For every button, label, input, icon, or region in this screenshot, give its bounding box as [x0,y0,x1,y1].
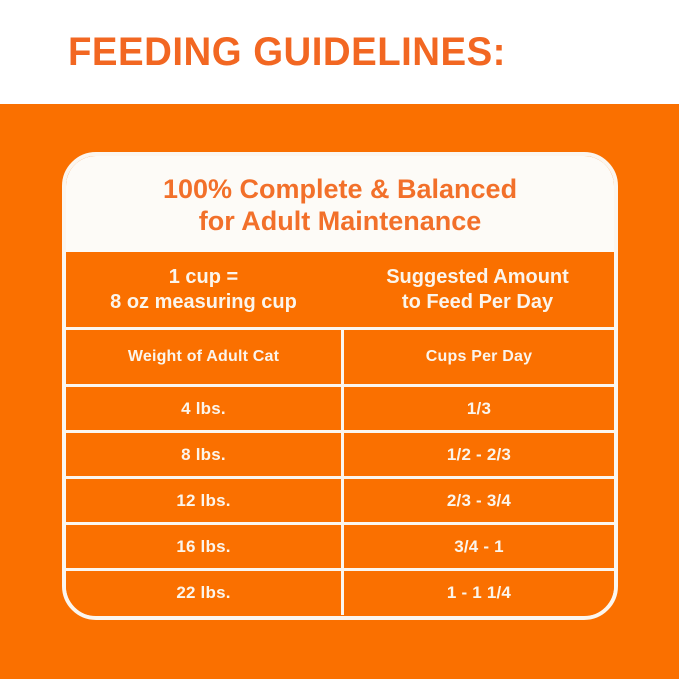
cell-cups: 2/3 - 3/4 [341,479,614,522]
cell-weight: 16 lbs. [66,525,341,568]
page-title: FEEDING GUIDELINES: [68,32,506,72]
card-heading: 100% Complete & Balanced for Adult Maint… [66,156,614,252]
cell-cups: 1/3 [341,387,614,430]
suggested-amount-note: Suggested Amount to Feed Per Day [341,252,614,327]
suggested-amount-note-line-1: Suggested Amount [386,265,569,289]
table-row: 22 lbs. 1 - 1 1/4 [66,568,614,615]
feeding-table: 1 cup = 8 oz measuring cup Suggested Amo… [66,252,614,615]
cell-weight: 12 lbs. [66,479,341,522]
table-row: 8 lbs. 1/2 - 2/3 [66,430,614,476]
cell-weight: 4 lbs. [66,387,341,430]
measuring-cup-note-line-1: 1 cup = [169,265,238,289]
cell-weight: 8 lbs. [66,433,341,476]
feeding-guidelines-page: FEEDING GUIDELINES: 100% Complete & Bala… [0,0,679,679]
column-header-weight: Weight of Adult Cat [66,330,341,384]
suggested-amount-note-line-2: to Feed Per Day [402,290,553,314]
table-row: 16 lbs. 3/4 - 1 [66,522,614,568]
cell-cups: 3/4 - 1 [341,525,614,568]
cell-weight: 22 lbs. [66,571,341,615]
table-row: 4 lbs. 1/3 [66,384,614,430]
table-header-row: Weight of Adult Cat Cups Per Day [66,327,614,384]
measuring-cup-note-line-2: 8 oz measuring cup [110,290,297,314]
table-intro-row: 1 cup = 8 oz measuring cup Suggested Amo… [66,252,614,327]
cell-cups: 1 - 1 1/4 [341,571,614,615]
cell-cups: 1/2 - 2/3 [341,433,614,476]
card-heading-line-2: for Adult Maintenance [199,206,482,238]
page-banner: FEEDING GUIDELINES: [0,0,679,104]
feeding-chart-card: 100% Complete & Balanced for Adult Maint… [62,152,618,620]
measuring-cup-note: 1 cup = 8 oz measuring cup [66,252,341,327]
column-header-cups: Cups Per Day [341,330,614,384]
table-row: 12 lbs. 2/3 - 3/4 [66,476,614,522]
card-heading-line-1: 100% Complete & Balanced [163,174,517,206]
